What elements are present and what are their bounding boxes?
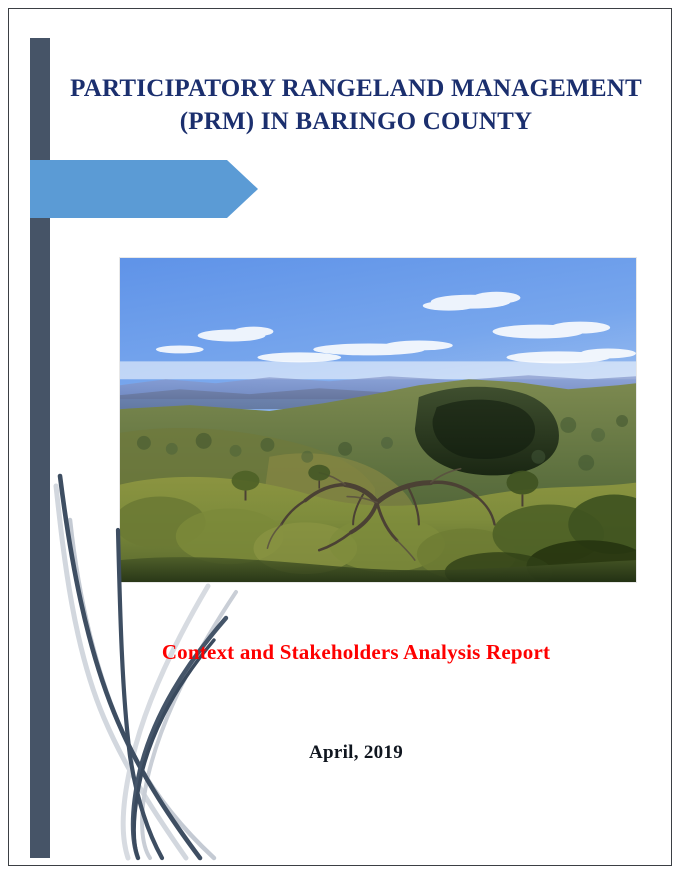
haze-band <box>120 361 636 379</box>
blue-chevron-arrow <box>30 160 258 218</box>
swoosh-light-3 <box>123 586 208 858</box>
title-line-1: PARTICIPATORY RANGELAND MANAGEMENT <box>70 75 642 102</box>
title-block: PARTICIPATORY RANGELAND MANAGEMENT (PRM)… <box>60 72 652 138</box>
subtitle-block: Context and Stakeholders Analysis Report <box>60 640 652 665</box>
cover-photo <box>119 257 637 583</box>
page-title: PARTICIPATORY RANGELAND MANAGEMENT (PRM)… <box>60 72 652 138</box>
publication-date: April, 2019 <box>60 742 652 764</box>
landscape-photo-illustration <box>120 258 636 582</box>
chevron-arrow-icon <box>30 160 258 218</box>
title-line-2: (PRM) IN BARINGO COUNTY <box>180 108 533 135</box>
page-subtitle: Context and Stakeholders Analysis Report <box>60 640 652 665</box>
date-block: April, 2019 <box>60 742 652 764</box>
cover-page: PARTICIPATORY RANGELAND MANAGEMENT (PRM)… <box>0 0 680 880</box>
swoosh-light-4 <box>142 592 236 858</box>
